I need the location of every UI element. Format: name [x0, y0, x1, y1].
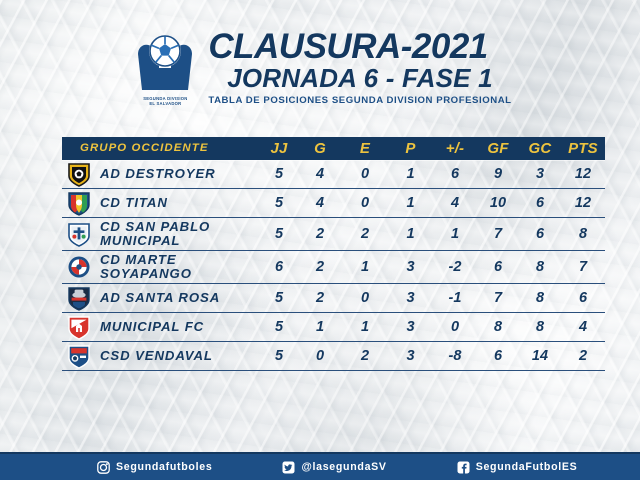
footer: Segundafutboles @lasegundaSV SegundaFutb… [0, 452, 640, 480]
cell-gd: 1 [433, 226, 477, 242]
cell-e: 1 [342, 319, 388, 335]
column-header-g: G [298, 140, 342, 157]
cell-gc: 8 [519, 319, 561, 335]
cell-g: 1 [298, 319, 342, 335]
crest-ad-santa-rosa-icon [67, 286, 91, 311]
crest-municipal-fc-icon [67, 315, 91, 340]
header: SEGUNDA DIVISION EL SALVADOR CLAUSURA-20… [0, 22, 640, 114]
team-name: CD TITAN [96, 196, 260, 210]
league-logo: SEGUNDA DIVISION EL SALVADOR [128, 28, 202, 108]
cell-gf: 7 [477, 226, 519, 242]
column-header-group: GRUPO OCCIDENTE [62, 142, 260, 154]
team-name: AD SANTA ROSA [96, 291, 260, 305]
cell-g: 2 [298, 226, 342, 242]
cell-gf: 10 [477, 195, 519, 211]
cell-e: 1 [342, 259, 388, 275]
table-row: CD SAN PABLO MUNICIPAL 5 2 2 1 1 7 6 8 [62, 218, 605, 251]
cell-pts: 4 [561, 319, 605, 335]
team-name: AD DESTROYER [96, 167, 260, 181]
column-header-gd: +/- [433, 140, 477, 157]
cell-gd: -1 [433, 290, 477, 306]
twitter-handle[interactable]: @lasegundaSV [282, 461, 386, 474]
column-header-jj: JJ [260, 140, 298, 157]
cell-g: 4 [298, 195, 342, 211]
team-name: MUNICIPAL FC [96, 320, 260, 334]
page-subtitle: JORNADA 6 - FASE 1 [227, 65, 493, 92]
instagram-label: Segundafutboles [116, 461, 212, 473]
league-logo-caption: SEGUNDA DIVISION EL SALVADOR [128, 96, 202, 107]
facebook-icon [457, 461, 470, 474]
crest-cd-titan-icon [67, 191, 91, 216]
cell-pts: 12 [561, 166, 605, 182]
crest-csd-vendaval-icon [67, 344, 91, 369]
cell-gd: -2 [433, 259, 477, 275]
cell-gc: 3 [519, 166, 561, 182]
standings-graphic: SEGUNDA DIVISION EL SALVADOR CLAUSURA-20… [0, 0, 640, 480]
cell-p: 1 [388, 195, 433, 211]
cell-g: 2 [298, 290, 342, 306]
instagram-handle[interactable]: Segundafutboles [97, 461, 212, 474]
column-header-e: E [342, 140, 388, 157]
column-header-pts: PTS [561, 140, 605, 157]
team-crest-cell [62, 315, 96, 340]
crest-cd-san-pablo-municipal-icon [67, 222, 91, 247]
standings-table: GRUPO OCCIDENTE JJ G E P +/- GF GC PTS A… [62, 137, 605, 371]
cell-p: 3 [388, 319, 433, 335]
column-header-gf: GF [477, 140, 519, 157]
cell-gd: 4 [433, 195, 477, 211]
cell-jj: 5 [260, 319, 298, 335]
title-block: CLAUSURA-2021 JORNADA 6 - FASE 1 TABLA D… [208, 30, 511, 105]
page-title: CLAUSURA-2021 [208, 30, 487, 64]
instagram-icon [97, 461, 110, 474]
team-crest-cell [62, 162, 96, 187]
team-crest-cell [62, 222, 96, 247]
cell-e: 0 [342, 166, 388, 182]
cell-p: 3 [388, 348, 433, 364]
cell-gc: 8 [519, 259, 561, 275]
cell-jj: 5 [260, 226, 298, 242]
cell-e: 2 [342, 348, 388, 364]
team-crest-cell [62, 191, 96, 216]
table-row: CSD VENDAVAL 5 0 2 3 -8 6 14 2 [62, 342, 605, 371]
logo-caption-line2: EL SALVADOR [128, 101, 202, 107]
team-name: CSD VENDAVAL [96, 349, 260, 363]
table-row: CD TITAN 5 4 0 1 4 10 6 12 [62, 189, 605, 218]
cell-pts: 12 [561, 195, 605, 211]
table-row: CD MARTE SOYAPANGO 6 2 1 3 -2 6 8 7 [62, 251, 605, 284]
twitter-icon [282, 461, 295, 474]
column-header-p: P [388, 140, 433, 157]
cell-p: 3 [388, 259, 433, 275]
cell-gf: 8 [477, 319, 519, 335]
cell-gd: 6 [433, 166, 477, 182]
cell-p: 1 [388, 226, 433, 242]
team-crest-cell [62, 255, 96, 279]
cell-gc: 6 [519, 195, 561, 211]
cell-e: 0 [342, 290, 388, 306]
table-row: AD DESTROYER 5 4 0 1 6 9 3 12 [62, 160, 605, 189]
team-crest-cell [62, 344, 96, 369]
cell-pts: 6 [561, 290, 605, 306]
cell-gf: 9 [477, 166, 519, 182]
league-logo-icon [128, 28, 202, 98]
page-description: TABLA DE POSICIONES SEGUNDA DIVISION PRO… [208, 95, 511, 106]
cell-pts: 7 [561, 259, 605, 275]
twitter-label: @lasegundaSV [301, 461, 386, 473]
crest-cd-marte-soyapango-icon [67, 255, 91, 279]
team-crest-cell [62, 286, 96, 311]
cell-jj: 6 [260, 259, 298, 275]
cell-pts: 2 [561, 348, 605, 364]
team-name: CD SAN PABLO MUNICIPAL [96, 220, 260, 249]
cell-g: 2 [298, 259, 342, 275]
facebook-handle[interactable]: SegundaFutbolES [457, 461, 578, 474]
cell-gc: 14 [519, 348, 561, 364]
cell-jj: 5 [260, 290, 298, 306]
facebook-label: SegundaFutbolES [476, 461, 578, 473]
cell-pts: 8 [561, 226, 605, 242]
cell-gc: 8 [519, 290, 561, 306]
cell-gf: 7 [477, 290, 519, 306]
table-header-row: GRUPO OCCIDENTE JJ G E P +/- GF GC PTS [62, 137, 605, 160]
cell-p: 3 [388, 290, 433, 306]
cell-e: 2 [342, 226, 388, 242]
cell-jj: 5 [260, 166, 298, 182]
cell-e: 0 [342, 195, 388, 211]
cell-gf: 6 [477, 348, 519, 364]
column-header-gc: GC [519, 140, 561, 157]
cell-p: 1 [388, 166, 433, 182]
cell-gc: 6 [519, 226, 561, 242]
cell-gd: 0 [433, 319, 477, 335]
cell-jj: 5 [260, 348, 298, 364]
table-row: MUNICIPAL FC 5 1 1 3 0 8 8 4 [62, 313, 605, 342]
team-name: CD MARTE SOYAPANGO [96, 253, 260, 282]
cell-g: 0 [298, 348, 342, 364]
cell-jj: 5 [260, 195, 298, 211]
cell-g: 4 [298, 166, 342, 182]
cell-gf: 6 [477, 259, 519, 275]
cell-gd: -8 [433, 348, 477, 364]
crest-ad-destroyer-icon [67, 162, 91, 187]
table-row: AD SANTA ROSA 5 2 0 3 -1 7 8 6 [62, 284, 605, 313]
